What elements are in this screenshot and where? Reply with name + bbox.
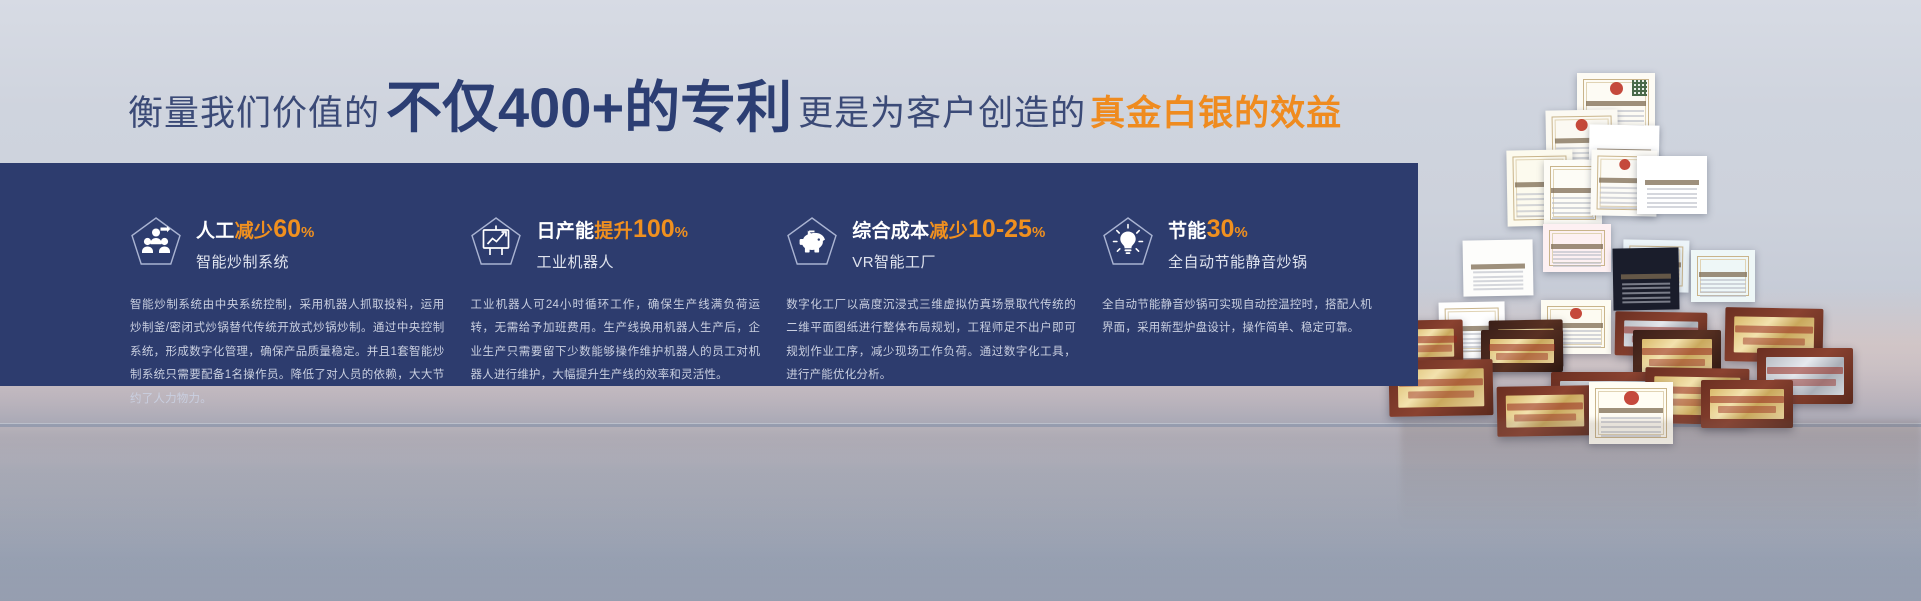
feature-headtext: 人工减少60%智能炒制系统: [196, 215, 315, 272]
feature-body: 数字化工厂以高度沉浸式三维虚拟仿真场景取代传统的二维平面图纸进行整体布局规划，工…: [786, 294, 1102, 388]
headline-emphasis: 不仅400+的专利: [386, 80, 792, 136]
feature-subtitle: 全自动节能静音炒锅: [1168, 251, 1308, 272]
metric-unit: %: [301, 224, 315, 241]
feature-header: 人工减少60%智能炒制系统: [130, 215, 470, 272]
presentation-chart-icon: [470, 216, 522, 268]
metric-unit: %: [675, 224, 689, 241]
metric-value: 10-25: [968, 215, 1032, 243]
feature-body: 工业机器人可24小时循环工作，确保生产线满负荷运转，无需给予加班费用。生产线换用…: [470, 294, 786, 388]
certificate-item: [1637, 156, 1707, 214]
pile-reflection: [1401, 420, 1921, 530]
metric-label: 节能: [1168, 221, 1207, 242]
feature-columns: 人工减少60%智能炒制系统智能炒制系统由中央系统控制，采用机器人抓取投料，运用炒…: [130, 215, 1398, 411]
metric-verb: 减少: [929, 221, 968, 242]
certificate-item: [1543, 224, 1611, 272]
certificate-item: [1691, 250, 1755, 302]
metric-unit: %: [1032, 224, 1046, 241]
feature-metric: 人工减少60%: [196, 216, 315, 244]
feature-metric: 综合成本减少10-25%: [852, 216, 1045, 244]
metric-label: 综合成本: [852, 221, 929, 242]
feature-subtitle: 工业机器人: [536, 251, 688, 272]
feature-subtitle: VR智能工厂: [852, 251, 1045, 272]
feature-column-4: 节能30%全自动节能静音炒锅全自动节能静音炒锅可实现自动控温控时，搭配人机界面，…: [1102, 215, 1398, 411]
feature-header: 节能30%全自动节能静音炒锅: [1102, 215, 1398, 272]
headline-middle: 更是为客户创造的: [798, 85, 1086, 136]
feature-body: 智能炒制系统由中央系统控制，采用机器人抓取投料，运用炒制釜/密闭式炒锅替代传统开…: [130, 294, 470, 412]
piggy-bank-icon: [786, 216, 838, 268]
banner-stage: 衡量我们价值的 不仅400+的专利 更是为客户创造的 真金白银的效益 人工减少6…: [0, 0, 1921, 601]
feature-column-1: 人工减少60%智能炒制系统智能炒制系统由中央系统控制，采用机器人抓取投料，运用炒…: [130, 215, 470, 411]
feature-header: 日产能提升100%工业机器人: [470, 215, 786, 272]
metric-verb: 减少: [235, 221, 274, 242]
lightbulb-icon: [1102, 216, 1154, 268]
feature-metric: 日产能提升100%: [536, 216, 688, 244]
award-plaque: [1481, 330, 1563, 372]
metric-label: 日产能: [536, 221, 594, 242]
people-group-icon: [130, 216, 182, 268]
feature-headtext: 节能30%全自动节能静音炒锅: [1168, 215, 1308, 272]
metric-verb: 提升: [594, 221, 633, 242]
metric-value: 30: [1207, 215, 1235, 243]
headline-highlight: 真金白银的效益: [1090, 85, 1342, 136]
certificate-item: [1612, 247, 1679, 310]
feature-header: 综合成本减少10-25%VR智能工厂: [786, 215, 1102, 272]
headline-lead: 衡量我们价值的: [128, 85, 380, 136]
feature-panel: 人工减少60%智能炒制系统智能炒制系统由中央系统控制，采用机器人抓取投料，运用炒…: [0, 163, 1418, 386]
feature-headtext: 综合成本减少10-25%VR智能工厂: [852, 215, 1045, 272]
metric-value: 60: [273, 215, 301, 243]
metric-value: 100: [633, 215, 675, 243]
feature-subtitle: 智能炒制系统: [196, 251, 315, 272]
certificate-item: [1463, 239, 1534, 296]
feature-column-3: 综合成本减少10-25%VR智能工厂数字化工厂以高度沉浸式三维虚拟仿真场景取代传…: [786, 215, 1102, 411]
metric-label: 人工: [196, 221, 235, 242]
feature-column-2: 日产能提升100%工业机器人工业机器人可24小时循环工作，确保生产线满负荷运转，…: [470, 215, 786, 411]
certificate-pile: [1401, 0, 1921, 601]
metric-unit: %: [1234, 224, 1248, 241]
feature-headtext: 日产能提升100%工业机器人: [536, 215, 688, 272]
feature-metric: 节能30%: [1168, 216, 1308, 244]
page-headline: 衡量我们价值的 不仅400+的专利 更是为客户创造的 真金白银的效益: [128, 78, 1342, 136]
feature-body: 全自动节能静音炒锅可实现自动控温控时，搭配人机界面，采用新型炉盘设计，操作简单、…: [1102, 294, 1398, 341]
